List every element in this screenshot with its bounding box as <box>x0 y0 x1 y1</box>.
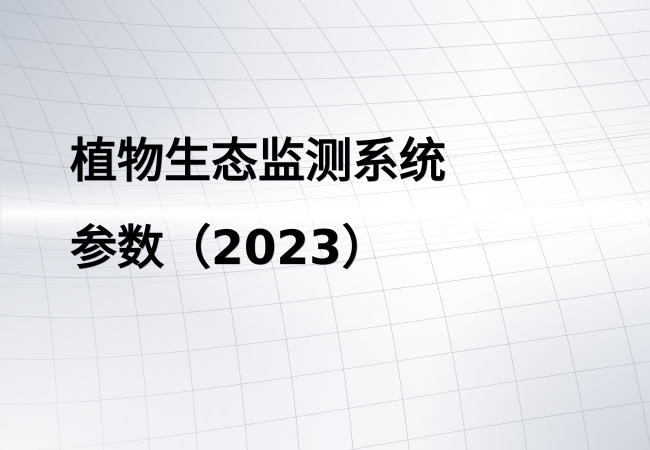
title-line-2: 参数（2023） <box>70 205 610 292</box>
title-slide: 植物生态监测系统 参数（2023） <box>0 0 650 450</box>
slide-title: 植物生态监测系统 参数（2023） <box>70 118 610 292</box>
title-line-1: 植物生态监测系统 <box>70 118 610 205</box>
